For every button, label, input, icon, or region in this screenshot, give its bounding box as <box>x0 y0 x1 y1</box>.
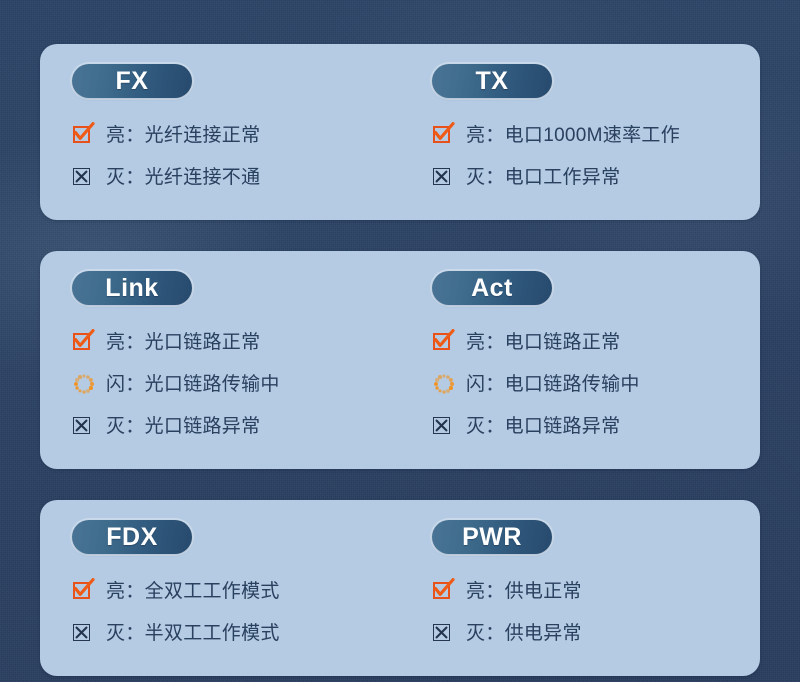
legend-row-list: 亮：供电正常灭：供电异常 <box>432 570 760 654</box>
check-mark-glyph <box>72 328 96 352</box>
legend-card: FDX亮：全双工工作模式灭：半双工工作模式PWR亮：供电正常灭：供电异常 <box>40 500 760 676</box>
dotted-ring-icon <box>432 372 456 396</box>
led-badge-fx: FX <box>72 64 192 98</box>
legend-row: 闪：电口链路传输中 <box>432 363 760 405</box>
legend-row-text: 亮：光纤连接正常 <box>106 126 260 145</box>
legend-row-text: 灭：光口链路异常 <box>106 417 260 436</box>
legend-row: 亮：光纤连接正常 <box>72 114 400 156</box>
checkbox-x-icon <box>432 165 456 189</box>
legend-row-list: 亮：光口链路正常闪：光口链路传输中灭：光口链路异常 <box>72 321 400 447</box>
legend-row-list: 亮：电口链路正常闪：电口链路传输中灭：电口链路异常 <box>432 321 760 447</box>
checkbox-x-icon <box>432 414 456 438</box>
led-badge-act: Act <box>432 271 552 305</box>
checkbox-checked-icon <box>72 579 96 603</box>
dotted-ring-icon <box>72 372 96 396</box>
dotted-ring-glyph <box>432 372 456 396</box>
x-mark-glyph <box>73 417 90 434</box>
legend-row: 灭：光口链路异常 <box>72 405 400 447</box>
legend-row-text: 亮：全双工工作模式 <box>106 582 280 601</box>
led-badge-pwr: PWR <box>432 520 552 554</box>
legend-row: 亮：光口链路正常 <box>72 321 400 363</box>
led-badge-link: Link <box>72 271 192 305</box>
x-mark-glyph <box>433 168 450 185</box>
legend-row-text: 亮：电口1000M速率工作 <box>466 126 680 145</box>
legend-row-text: 灭：供电异常 <box>466 624 582 643</box>
legend-column-link: Link亮：光口链路正常闪：光口链路传输中灭：光口链路异常 <box>40 251 400 469</box>
checkbox-x-icon <box>72 621 96 645</box>
legend-row-text: 灭：半双工工作模式 <box>106 624 280 643</box>
legend-row: 亮：供电正常 <box>432 570 760 612</box>
checkbox-checked-icon <box>432 579 456 603</box>
checkbox-x-icon <box>72 414 96 438</box>
legend-column-act: Act亮：电口链路正常闪：电口链路传输中灭：电口链路异常 <box>400 251 760 469</box>
legend-row-text: 闪：电口链路传输中 <box>466 375 640 394</box>
legend-column-fdx: FDX亮：全双工工作模式灭：半双工工作模式 <box>40 500 400 676</box>
check-mark-glyph <box>432 121 456 145</box>
legend-row-text: 灭：电口链路异常 <box>466 417 620 436</box>
checkbox-checked-icon <box>432 330 456 354</box>
legend-row-text: 亮：电口链路正常 <box>466 333 620 352</box>
legend-card: Link亮：光口链路正常闪：光口链路传输中灭：光口链路异常Act亮：电口链路正常… <box>40 251 760 469</box>
legend-row: 亮：电口链路正常 <box>432 321 760 363</box>
legend-column-fx: FX亮：光纤连接正常灭：光纤连接不通 <box>40 44 400 220</box>
checkbox-x-icon <box>72 165 96 189</box>
legend-row-text: 灭：电口工作异常 <box>466 168 620 187</box>
checkbox-x-icon <box>432 621 456 645</box>
led-indicator-legend-page: FX亮：光纤连接正常灭：光纤连接不通TX亮：电口1000M速率工作灭：电口工作异… <box>0 0 800 682</box>
checkbox-checked-icon <box>432 123 456 147</box>
check-mark-glyph <box>72 121 96 145</box>
legend-column-pwr: PWR亮：供电正常灭：供电异常 <box>400 500 760 676</box>
check-mark-glyph <box>432 328 456 352</box>
legend-row: 闪：光口链路传输中 <box>72 363 400 405</box>
x-mark-glyph <box>73 624 90 641</box>
legend-row-list: 亮：光纤连接正常灭：光纤连接不通 <box>72 114 400 198</box>
x-mark-glyph <box>433 624 450 641</box>
dotted-ring-glyph <box>72 372 96 396</box>
checkbox-checked-icon <box>72 123 96 147</box>
check-mark-glyph <box>72 577 96 601</box>
legend-card: FX亮：光纤连接正常灭：光纤连接不通TX亮：电口1000M速率工作灭：电口工作异… <box>40 44 760 220</box>
legend-row: 灭：电口链路异常 <box>432 405 760 447</box>
x-mark-glyph <box>433 417 450 434</box>
led-badge-tx: TX <box>432 64 552 98</box>
legend-row: 灭：光纤连接不通 <box>72 156 400 198</box>
legend-card-list: FX亮：光纤连接正常灭：光纤连接不通TX亮：电口1000M速率工作灭：电口工作异… <box>0 0 800 682</box>
led-badge-fdx: FDX <box>72 520 192 554</box>
legend-row-list: 亮：电口1000M速率工作灭：电口工作异常 <box>432 114 760 198</box>
legend-row: 灭：电口工作异常 <box>432 156 760 198</box>
legend-row: 灭：供电异常 <box>432 612 760 654</box>
legend-row: 灭：半双工工作模式 <box>72 612 400 654</box>
legend-column-tx: TX亮：电口1000M速率工作灭：电口工作异常 <box>400 44 760 220</box>
checkbox-checked-icon <box>72 330 96 354</box>
legend-row-text: 闪：光口链路传输中 <box>106 375 280 394</box>
legend-row-text: 亮：供电正常 <box>466 582 582 601</box>
x-mark-glyph <box>73 168 90 185</box>
legend-row: 亮：电口1000M速率工作 <box>432 114 760 156</box>
legend-row-text: 亮：光口链路正常 <box>106 333 260 352</box>
legend-row-list: 亮：全双工工作模式灭：半双工工作模式 <box>72 570 400 654</box>
check-mark-glyph <box>432 577 456 601</box>
legend-row-text: 灭：光纤连接不通 <box>106 168 260 187</box>
legend-row: 亮：全双工工作模式 <box>72 570 400 612</box>
